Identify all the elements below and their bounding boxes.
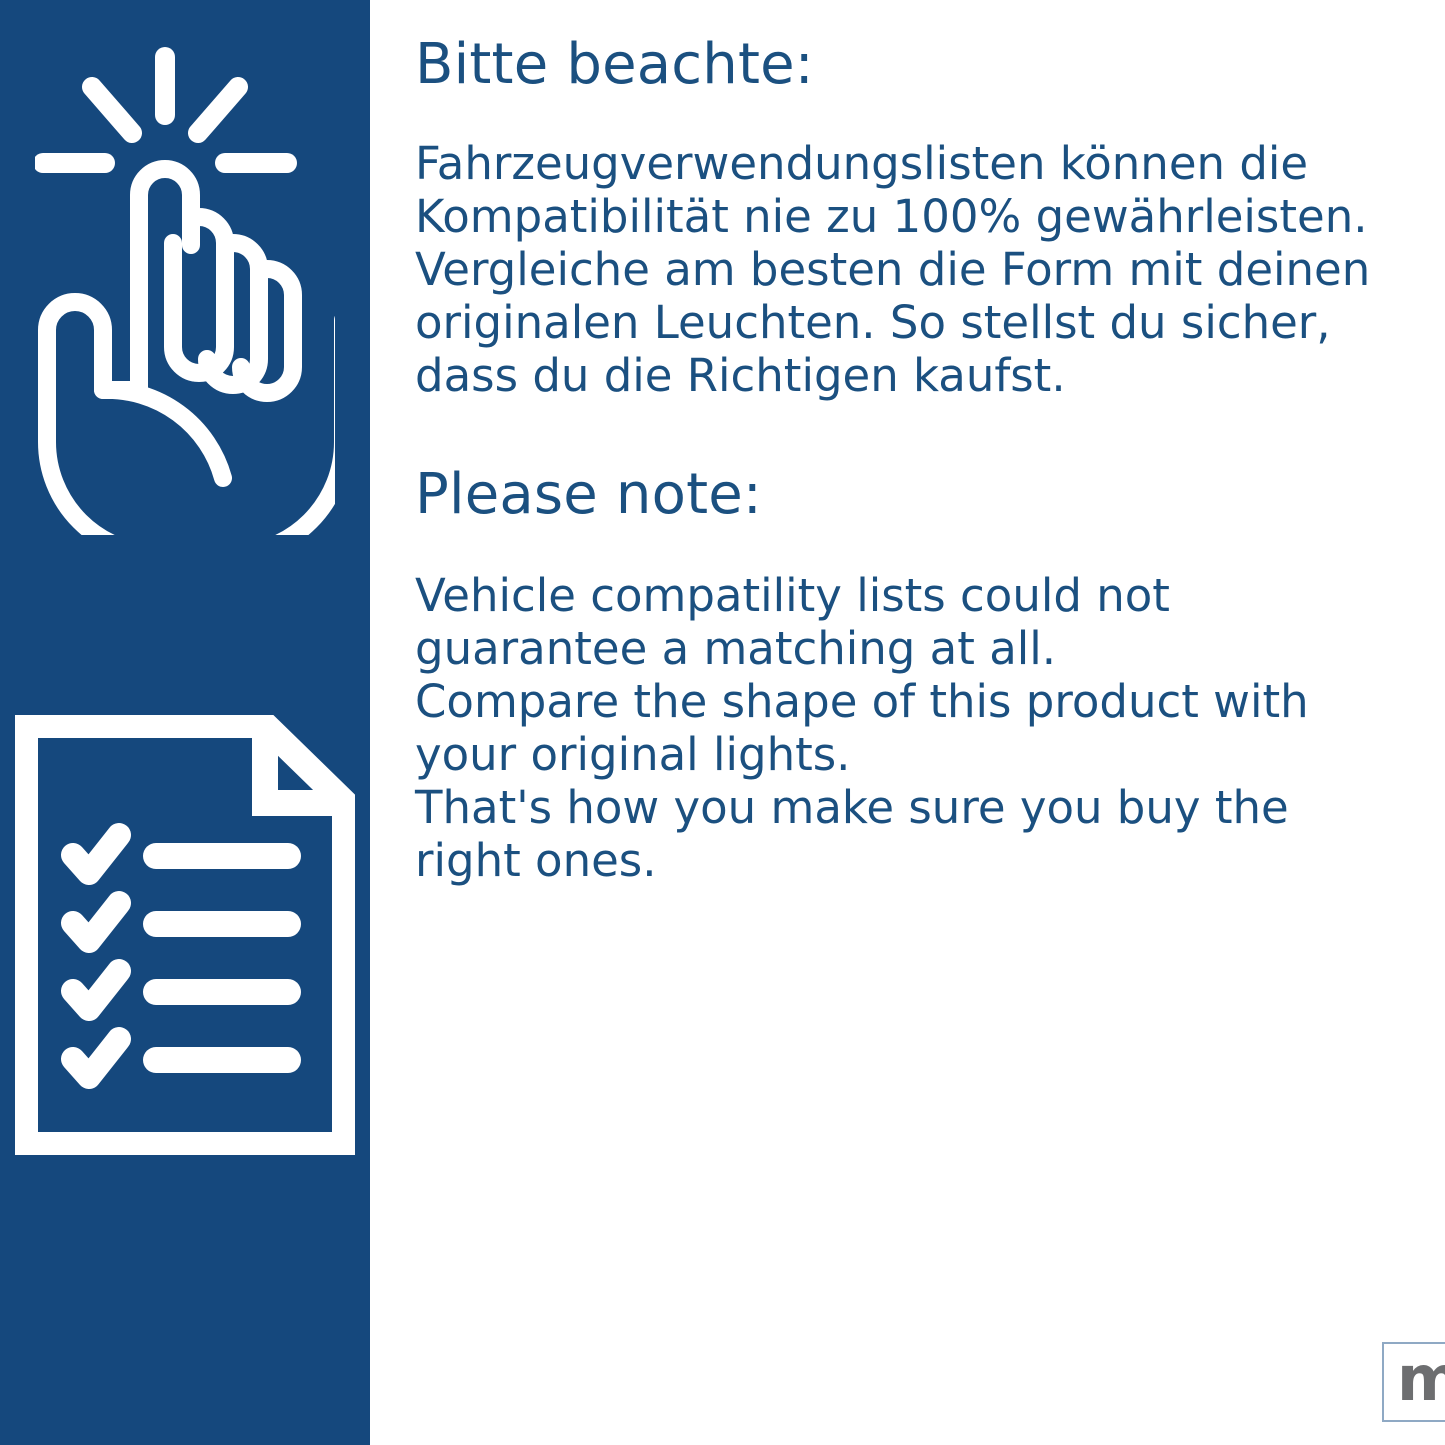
german-heading: Bitte beachte:	[415, 34, 1405, 97]
english-paragraph: Vehicle compatility lists could not guar…	[415, 569, 1405, 888]
german-line-4: originalen Leuchten. So stellst du siche…	[415, 296, 1331, 349]
spacer	[415, 402, 1405, 464]
german-line-3: Vergleiche am besten die Form mit deinen	[415, 243, 1370, 296]
english-line-3: Compare the shape of this product with	[415, 675, 1309, 728]
spacer	[415, 97, 1405, 137]
pointing-hand-click-icon	[35, 45, 335, 535]
english-line-4: your original lights.	[415, 728, 850, 781]
logo-mark-text: mt	[1397, 1348, 1445, 1410]
german-line-5: dass du die Richtigen kaufst.	[415, 349, 1066, 402]
german-line-1: Fahrzeugverwendungslisten können die	[415, 137, 1308, 190]
checklist-icon-container	[0, 700, 370, 1170]
german-line-2: Kompatibilität nie zu 100% gewährleisten…	[415, 190, 1368, 243]
content-column: Bitte beachte: Fahrzeugverwendungslisten…	[370, 0, 1445, 1445]
logo-mark-box: mt	[1382, 1342, 1445, 1422]
pointing-hand-icon-container	[0, 30, 370, 550]
sidebar	[0, 0, 370, 1445]
english-line-2: guarantee a matching at all.	[415, 622, 1056, 675]
info-banner-page: Bitte beachte: Fahrzeugverwendungslisten…	[0, 0, 1445, 1445]
german-paragraph: Fahrzeugverwendungslisten können die Kom…	[415, 137, 1405, 402]
english-heading: Please note:	[415, 464, 1405, 527]
checklist-document-icon	[15, 715, 355, 1155]
english-line-1: Vehicle compatility lists could not	[415, 569, 1170, 622]
english-line-5: That's how you make sure you buy the	[415, 781, 1289, 834]
spacer	[415, 527, 1405, 569]
english-line-6: right ones.	[415, 834, 657, 887]
mt-commerce-logo: mt commerce	[1382, 1336, 1445, 1428]
notice-text-block: Bitte beachte: Fahrzeugverwendungslisten…	[415, 34, 1405, 887]
